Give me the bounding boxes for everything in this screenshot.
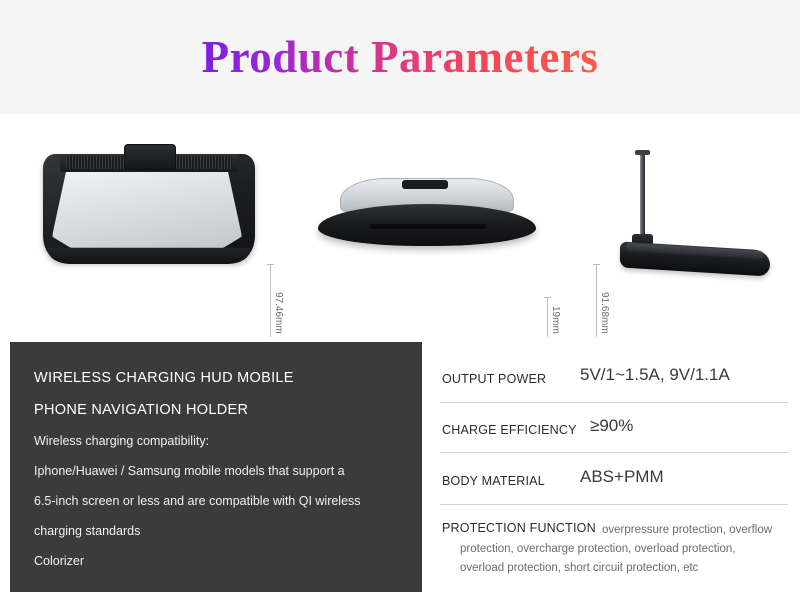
- product1-hud-screen: [52, 166, 242, 248]
- product-parameters-page: Product Parameters 159.76mm 97.46mm: [0, 0, 800, 600]
- product1-texture-left: [66, 156, 128, 169]
- product2-height-tick-top: [544, 297, 551, 298]
- product-image-top-view: [318, 178, 536, 263]
- product1-height-label: 97.46mm: [273, 292, 284, 334]
- product1-texture-right: [170, 156, 232, 169]
- compatibility-line-1: Iphone/Huawei / Samsung mobile models th…: [34, 456, 398, 486]
- spec-value-protection-line3: overload protection, short circuit prote…: [460, 559, 800, 578]
- product-description-panel: WIRELESS CHARGING HUD MOBILE PHONE NAVIG…: [10, 342, 422, 592]
- product2-seam: [370, 224, 486, 229]
- compatibility-line-2: 6.5-inch screen or less and are compatib…: [34, 486, 398, 516]
- spec-label-body-material: BODY MATERIAL: [442, 474, 545, 488]
- compatibility-heading: Wireless charging compatibility:: [34, 426, 398, 456]
- spec-row-charge-efficiency: CHARGE EFFICIENCY ≥90%: [440, 403, 788, 453]
- product-name-line1: WIRELESS CHARGING HUD MOBILE: [34, 362, 398, 394]
- product3-height-label: 91.68mm: [599, 292, 610, 334]
- product1-height-tick-top: [267, 264, 274, 265]
- spec-label-output-power: OUTPUT POWER: [442, 372, 546, 386]
- spec-value-charge-efficiency: ≥90%: [590, 416, 633, 436]
- product3-height-tick-top: [593, 264, 600, 265]
- product-images-band: 159.76mm 97.46mm 19mm 91.68mm: [0, 114, 800, 337]
- spec-label-charge-efficiency: CHARGE EFFICIENCY: [442, 423, 577, 437]
- spec-value-protection-line1: overpressure protection, overflow: [602, 521, 792, 540]
- product2-notch: [402, 180, 448, 189]
- product-image-front-view: [38, 136, 260, 271]
- spec-row-protection-function: PROTECTION FUNCTION overpressure protect…: [440, 505, 788, 583]
- colorizer-line: Colorizer: [34, 546, 398, 576]
- spec-table: OUTPUT POWER 5V/1~1.5A, 9V/1.1A CHARGE E…: [440, 337, 790, 587]
- spec-row-output-power: OUTPUT POWER 5V/1~1.5A, 9V/1.1A: [440, 351, 788, 403]
- product-name-line2: PHONE NAVIGATION HOLDER: [34, 394, 398, 426]
- product3-stand-arm: [640, 150, 645, 238]
- product-image-side-view: [612, 150, 772, 280]
- product3-stand-arm-top: [635, 150, 650, 155]
- page-header: Product Parameters: [0, 0, 800, 114]
- spec-value-output-power: 5V/1~1.5A, 9V/1.1A: [580, 365, 730, 385]
- spec-label-protection-function: PROTECTION FUNCTION: [442, 521, 596, 535]
- product-details-section: WIRELESS CHARGING HUD MOBILE PHONE NAVIG…: [0, 337, 800, 600]
- spec-value-body-material: ABS+PMM: [580, 467, 664, 487]
- compatibility-line-3: charging standards: [34, 516, 398, 546]
- spec-value-protection-line2: protection, overcharge protection, overl…: [460, 540, 800, 559]
- spec-row-body-material: BODY MATERIAL ABS+PMM: [440, 453, 788, 505]
- product1-base: [48, 248, 250, 264]
- product2-height-label: 19mm: [550, 306, 561, 334]
- page-title: Product Parameters: [202, 31, 599, 83]
- product1-phone-clip: [124, 144, 176, 170]
